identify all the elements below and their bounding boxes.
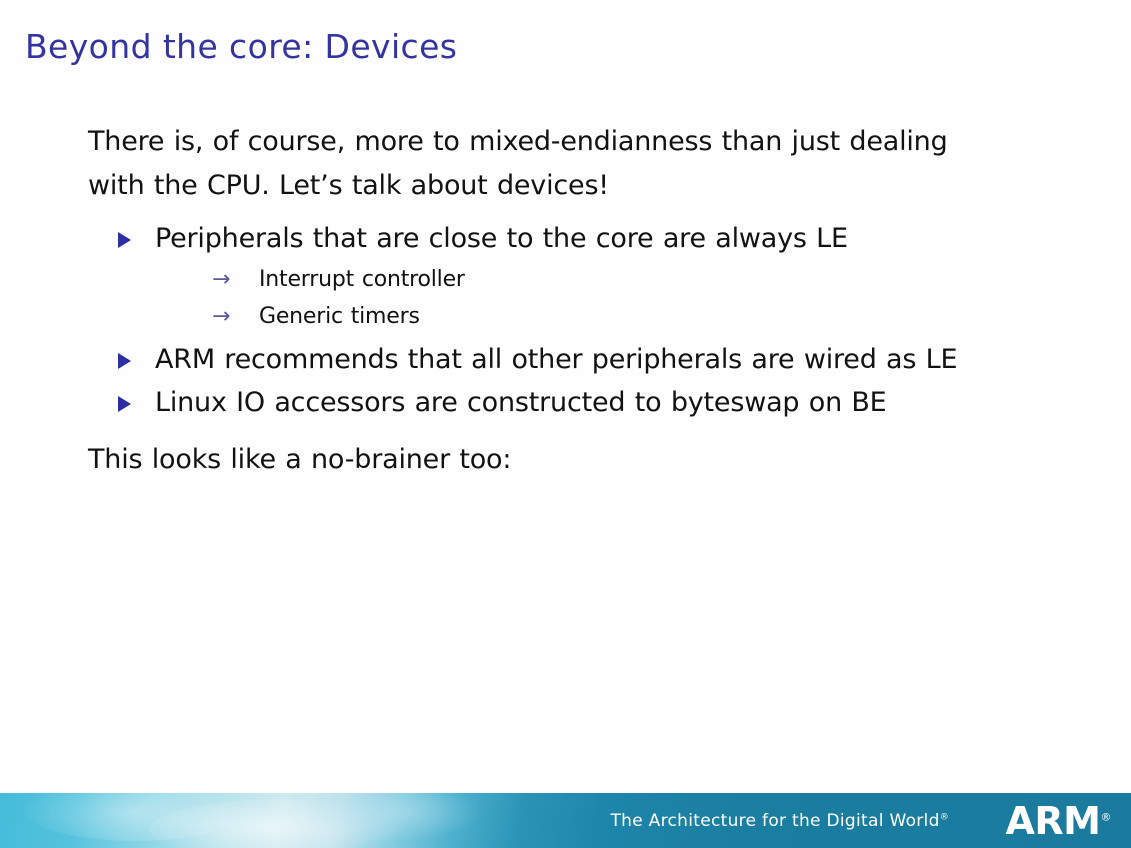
triangle-bullet-icon xyxy=(118,353,131,369)
cloud-texture-icon xyxy=(300,793,480,841)
triangle-bullet-icon xyxy=(118,396,131,412)
list-item: Peripherals that are close to the core a… xyxy=(118,217,1131,335)
footer-tagline: The Architecture for the Digital World® xyxy=(610,811,949,831)
list-item: Linux IO accessors are constructed to by… xyxy=(118,381,1131,424)
arm-logo: ARM® xyxy=(1006,802,1111,840)
bullet-list: Peripherals that are close to the core a… xyxy=(0,217,1131,424)
registered-mark: ® xyxy=(940,812,949,822)
list-item: ARM recommends that all other peripheral… xyxy=(118,338,1131,381)
cloud-texture-icon xyxy=(150,799,410,848)
sub-bullet-label: Generic timers xyxy=(259,304,420,329)
slide-canvas: Beyond the core: Devices There is, of co… xyxy=(0,0,1131,848)
closing-paragraph: This looks like a no-brainer too: xyxy=(88,438,1000,482)
footer-banner: The Architecture for the Digital World® … xyxy=(0,793,1131,848)
cloud-texture-icon xyxy=(20,793,250,841)
registered-mark: ® xyxy=(1101,810,1112,823)
arrow-right-icon: → xyxy=(212,298,230,335)
footer-tagline-text: The Architecture for the Digital World xyxy=(610,811,939,831)
page-title: Beyond the core: Devices xyxy=(25,27,457,66)
intro-paragraph: There is, of course, more to mixed-endia… xyxy=(88,120,1000,208)
arm-logo-text: ARM xyxy=(1006,799,1101,843)
sub-list-item: → Generic timers xyxy=(212,298,1131,335)
slide-body: There is, of course, more to mixed-endia… xyxy=(0,120,1131,482)
sub-bullet-list: → Interrupt controller → Generic timers xyxy=(155,261,1131,335)
arrow-right-icon: → xyxy=(212,261,230,298)
triangle-bullet-icon xyxy=(118,232,131,248)
bullet-label: ARM recommends that all other peripheral… xyxy=(155,344,957,375)
sub-bullet-label: Interrupt controller xyxy=(259,267,465,292)
sub-list-item: → Interrupt controller xyxy=(212,261,1131,298)
bullet-label: Linux IO accessors are constructed to by… xyxy=(155,387,887,418)
bullet-label: Peripherals that are close to the core a… xyxy=(155,223,848,254)
